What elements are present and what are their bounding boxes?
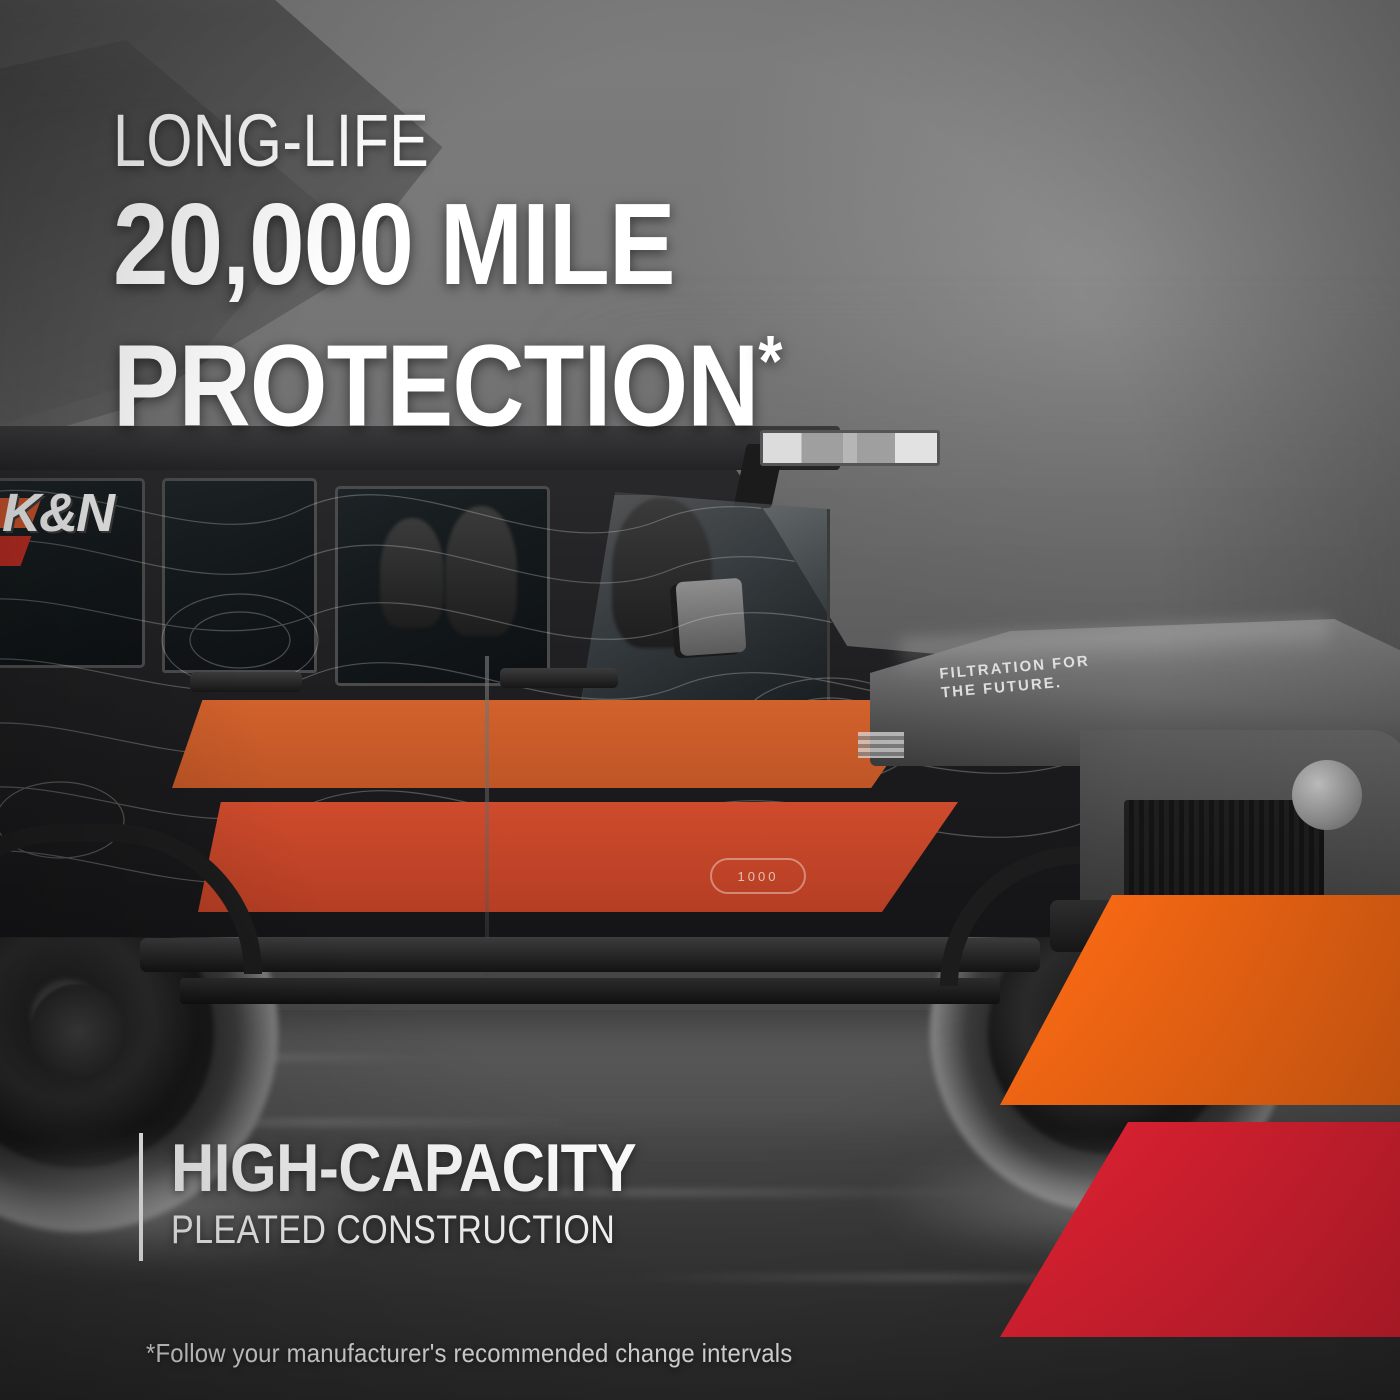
feature-title: HIGH-CAPACITY [171,1133,636,1203]
feature-subtitle: PLEATED CONSTRUCTION [171,1209,620,1251]
headlight [1292,760,1362,830]
footnote-text: *Follow your manufacturer's recommended … [146,1338,792,1369]
rear-door-handle [190,672,302,692]
headline-eyebrow: LONG-LIFE [113,104,735,178]
headline-line-1: 20,000 MILE [113,192,782,296]
door-seam [485,656,489,986]
door-badge: 1000 [710,858,806,894]
headline-asterisk: * [758,322,781,402]
rock-slider [140,938,1040,972]
front-door-handle [500,668,618,688]
door-stripe-lower [198,802,958,912]
kn-logo: K&N [0,488,120,604]
feature-callout: HIGH-CAPACITY PLEATED CONSTRUCTION [139,1133,700,1261]
rear-hub [30,984,126,1080]
door-stripe-upper [172,700,932,788]
usa-flag-decal [858,732,904,758]
promo-banner: 1000 K&N FILTRATION FOR THE FUTURE. [0,0,1400,1400]
kn-logo-text: K&N [2,486,112,602]
headline-line-2-text: PROTECTION [113,321,758,451]
headline-line-2: PROTECTION* [113,310,782,438]
side-step [180,978,1000,1004]
headline-block: LONG-LIFE 20,000 MILE PROTECTION* [113,104,891,438]
